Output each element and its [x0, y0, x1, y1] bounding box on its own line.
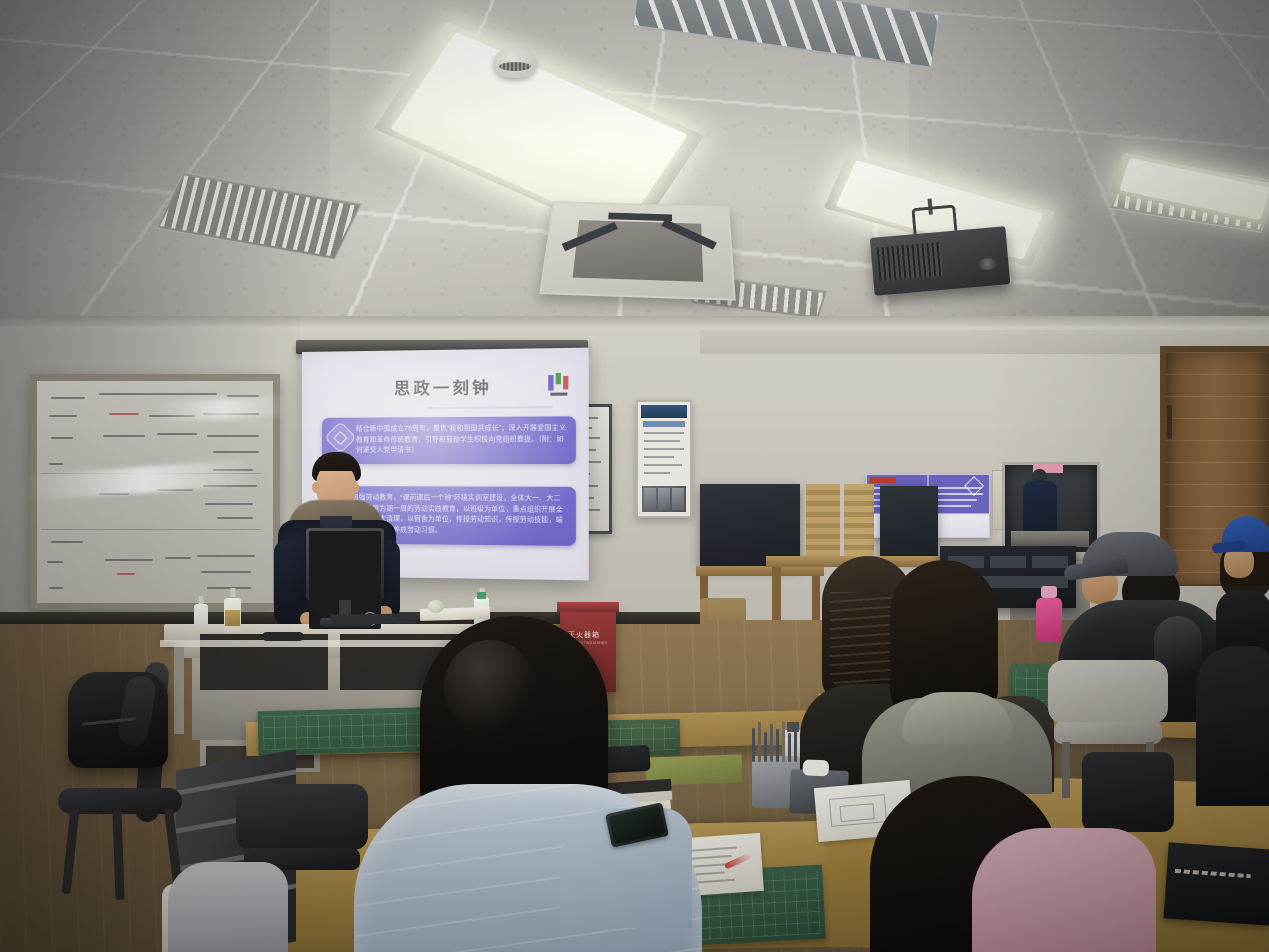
- black-portfolio[interactable]: [1163, 842, 1269, 925]
- notice-board-right: [636, 400, 692, 518]
- wood-panel-b: [844, 484, 874, 564]
- remote-control[interactable]: [262, 632, 304, 641]
- student-right-edge: [1196, 646, 1269, 806]
- student-bottom-left: [168, 862, 288, 952]
- student-pink-jacket: [856, 776, 1156, 952]
- student-blue-jacket: [346, 616, 706, 952]
- student-gray-jacket: [862, 560, 1052, 790]
- equipment-board-right: [880, 486, 938, 560]
- smoke-detector-icon: [493, 48, 537, 78]
- hand-sanitizer-bottle-1[interactable]: [194, 596, 208, 630]
- tissue-wad: [428, 600, 444, 613]
- ceiling-cassette-air-conditioner: [539, 201, 736, 301]
- ceiling-projector: [870, 226, 1011, 296]
- equipment-board-left: [700, 484, 800, 566]
- ceiling-shadow-left: [0, 0, 330, 350]
- backpack[interactable]: [68, 672, 168, 768]
- student-blue-cap: [1216, 516, 1269, 656]
- hand-sanitizer-bottle-2[interactable]: [224, 588, 241, 632]
- institution-logo-icon: [546, 373, 574, 400]
- slide-divider: [427, 406, 552, 409]
- wood-panel-a: [806, 484, 840, 564]
- whiteboard: [30, 374, 280, 610]
- classroom-photo: 思政一刻钟 结合新中国成立75周年，聚焦“我和祖国共成长”，深入开展爱国主义教育…: [0, 0, 1269, 952]
- door-hinge: [1167, 405, 1172, 439]
